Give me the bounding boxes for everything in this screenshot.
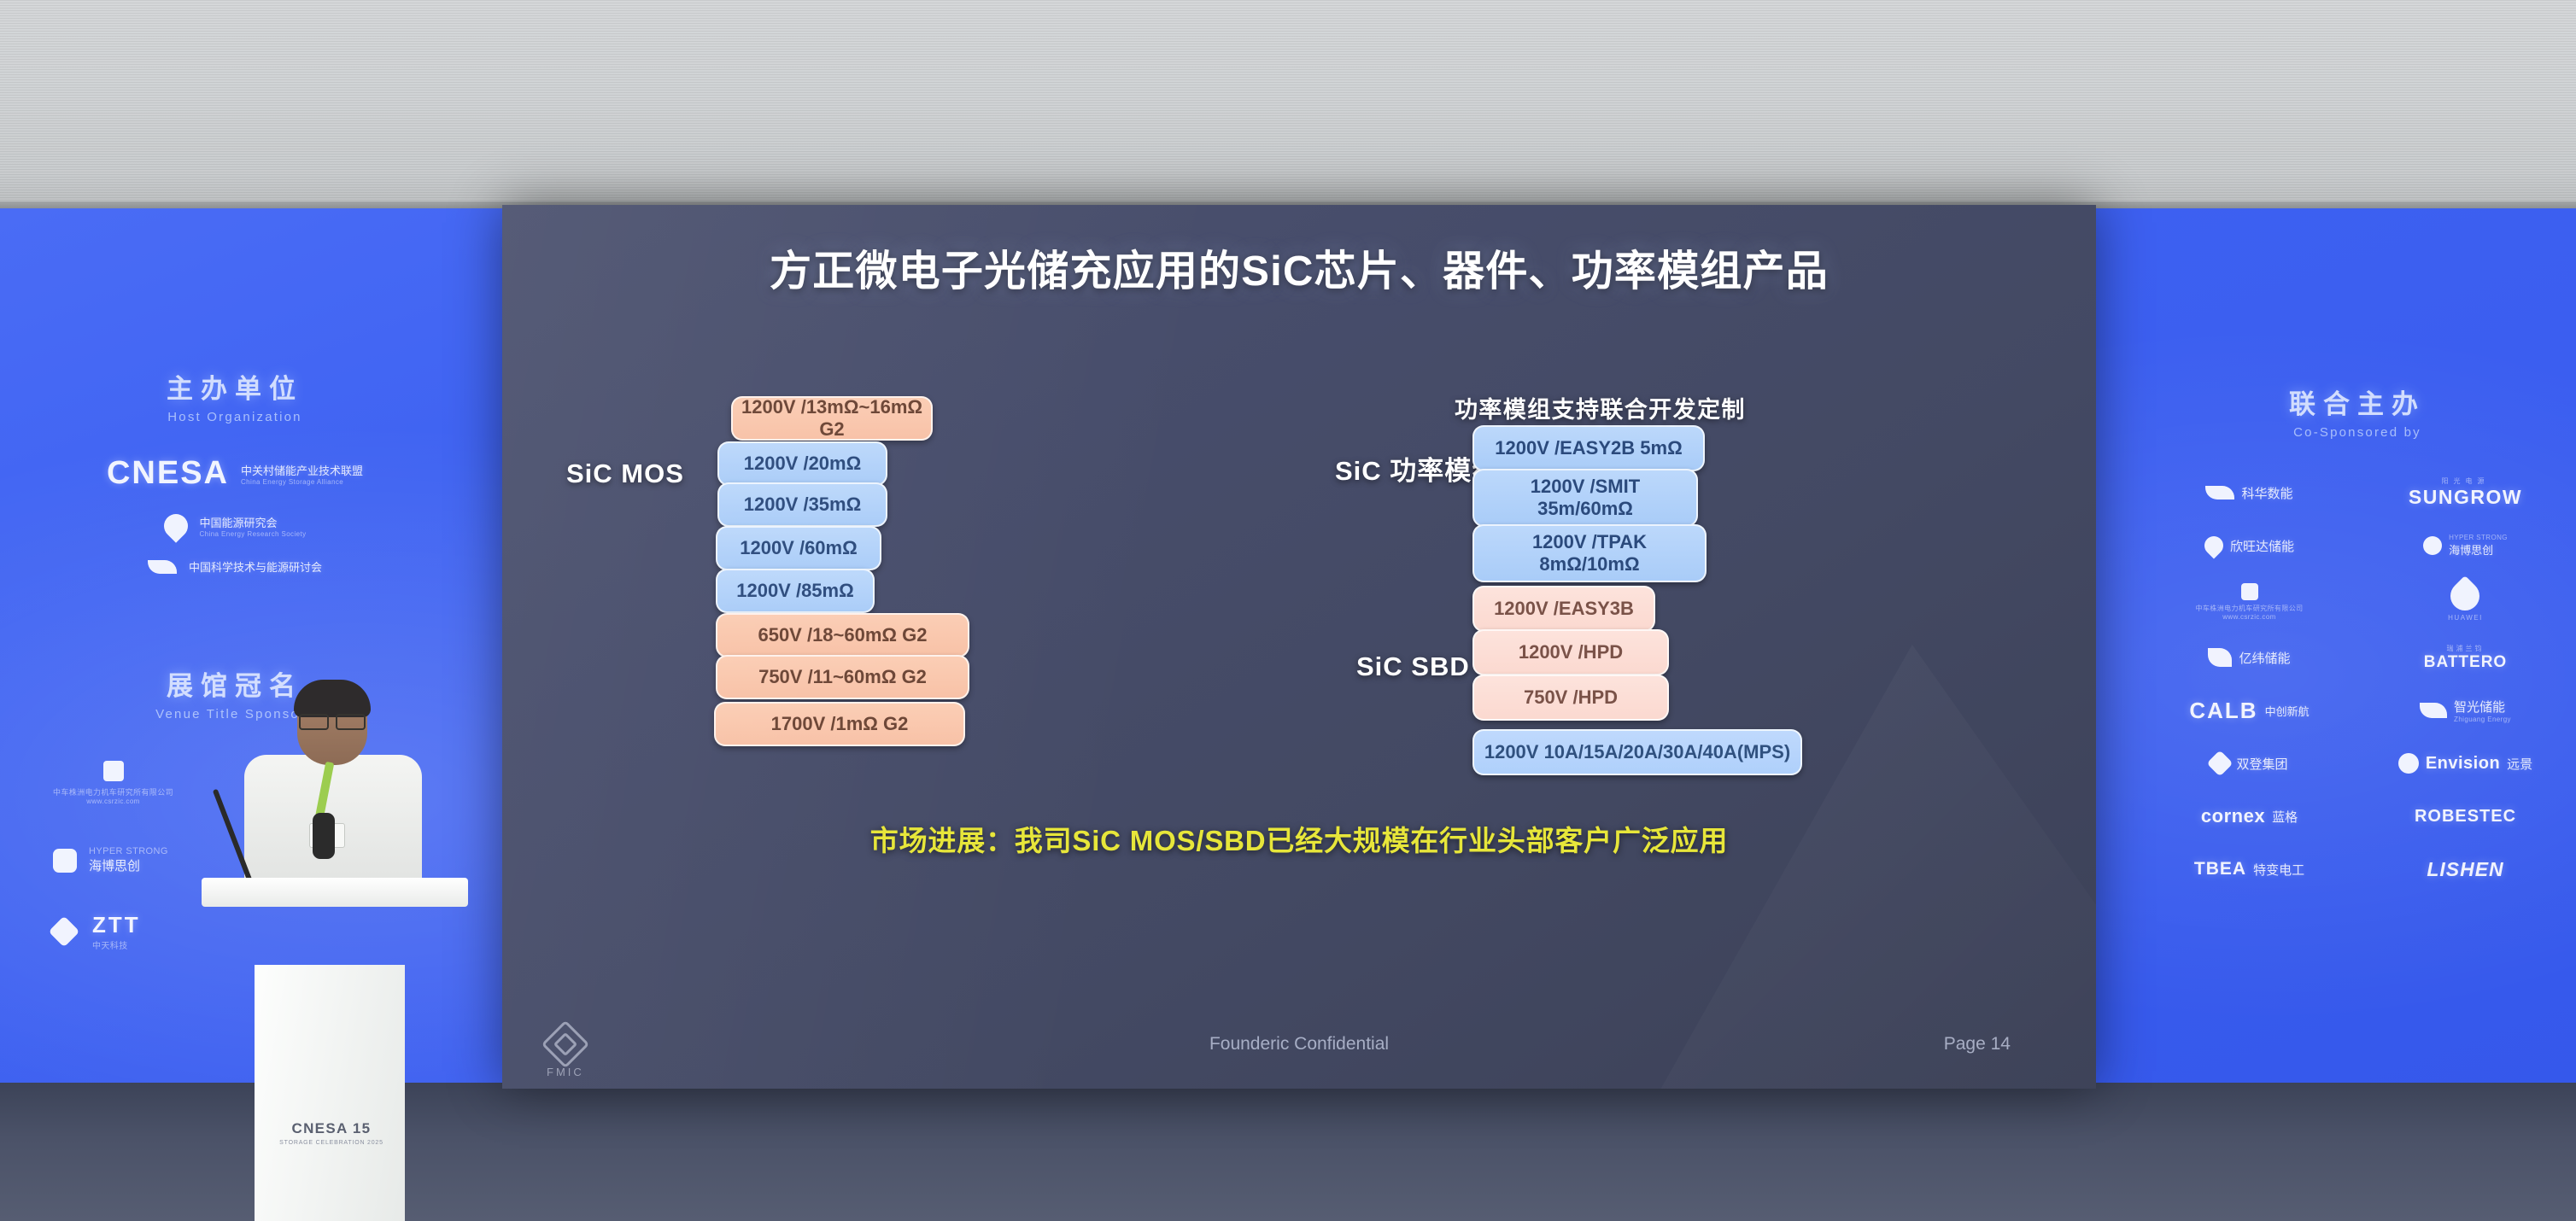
podium-logo-sub: STORAGE CELEBRATION 2025 — [272, 1140, 391, 1146]
chip-module-2: 1200V /TPAK 8mΩ/10mΩ — [1472, 524, 1707, 582]
logo-envision-energy: 欣旺达储能 — [2152, 529, 2346, 563]
chip-mos-4: 1200V /85mΩ — [716, 569, 875, 613]
envision-name-cn: 远景 — [2507, 755, 2532, 773]
cnesa-name-en: China Energy Storage Alliance — [241, 478, 363, 486]
petal-icon — [2200, 532, 2227, 558]
logo-battero: 瑞浦兰钧 BATTERO — [2368, 640, 2562, 675]
sungrow-name-cn: 阳光电源 — [2409, 476, 2522, 486]
logo-lishen: LISHEN — [2368, 852, 2562, 886]
cnesa-name-cn: 中关村储能产业技术联盟 — [241, 462, 363, 478]
co-sponsor-logo-grid: 科华数能 阳光电源 SUNGROW 欣旺达储能 HYPER STRONG 海博思… — [2152, 476, 2562, 886]
cers-name-cn: 中国能源研究会 — [200, 514, 307, 530]
podium-branding: CNESA 15 STORAGE CELEBRATION 2025 — [272, 1120, 391, 1146]
swoosh-icon — [148, 560, 177, 574]
chip-module-5: 750V /HPD — [1472, 675, 1669, 721]
chip-sbd-0: 1200V 10A/15A/20A/30A/40A(MPS) — [1472, 729, 1802, 775]
logo-zhiguang: 智光储能 Zhiguang Energy — [2368, 693, 2562, 727]
calb-wordmark: CALB — [2189, 698, 2257, 724]
calb-name-cn: 中创新航 — [2265, 703, 2310, 719]
cornex-name-cn: 蓝格 — [2272, 808, 2298, 826]
logo-shuangdeng: 双登集团 — [2152, 746, 2346, 780]
slide-title: 方正微电子光储充应用的SiC芯片、器件、功率模组产品 — [502, 237, 2096, 298]
shuangdeng-name: 双登集团 — [2236, 755, 2287, 773]
presenter: CNESA 15 STORAGE CELEBRATION 2025 — [231, 683, 436, 965]
logo-eve-energy: 亿纬储能 — [2152, 640, 2346, 675]
square-icon — [103, 761, 124, 781]
petal-icon — [159, 509, 193, 543]
cset-name-cn: 中国科学技术与能源研讨会 — [189, 558, 322, 575]
robestec-wordmark: ROBESTEC — [2415, 807, 2516, 827]
chip-mos-1: 1200V /20mΩ — [717, 441, 887, 486]
battero-wordmark: BATTERO — [2424, 653, 2507, 671]
hyperstrong2-name-cn: 海博思创 — [2449, 541, 2508, 558]
logo-kehua: 科华数能 — [2152, 476, 2346, 510]
chip-mos-2: 1200V /35mΩ — [717, 482, 887, 527]
square-icon — [2241, 583, 2258, 600]
chip-module-0: 1200V /EASY2B 5mΩ — [1472, 425, 1705, 471]
slide-footer: FMIC Founderic Confidential Page 14 — [502, 1025, 2096, 1073]
glasses-icon — [299, 714, 366, 727]
diamond-icon — [2207, 750, 2234, 776]
host-organization-heading-cn: 主办单位 — [34, 367, 436, 406]
logo-robestec: ROBESTEC — [2368, 799, 2562, 833]
crrc2-name-cn: 中车株洲电力机车研究所有限公司 — [2196, 604, 2304, 613]
chip-mos-3: 1200V /60mΩ — [716, 526, 881, 570]
logo-cers: 中国能源研究会 China Energy Research Society — [34, 514, 436, 538]
podium-stem — [255, 965, 405, 1221]
co-sponsors-panel: 联合主办 Co-Sponsored by 科华数能 阳光电源 SUNGROW 欣… — [2152, 383, 2562, 886]
crrc-name-en: www.csrzic.com — [53, 797, 173, 805]
ceiling — [0, 0, 2576, 210]
co-sponsor-heading-cn: 联合主办 — [2152, 383, 2562, 421]
chip-module-1: 1200V /SMIT 35m/60mΩ — [1472, 469, 1698, 527]
logo-calb: CALB 中创新航 — [2152, 693, 2346, 727]
xinwangda-name: 欣旺达储能 — [2230, 537, 2294, 555]
logo-cnesa: CNESA 中关村储能产业技术联盟 China Energy Storage A… — [34, 455, 436, 492]
sungrow-wordmark: SUNGROW — [2409, 486, 2522, 508]
logo-cornex: cornex 蓝格 — [2152, 799, 2346, 833]
group-label-sic-sbd: SiC SBD — [1356, 651, 1470, 682]
host-organization-panel: 主办单位 Host Organization CNESA 中关村储能产业技术联盟… — [34, 367, 436, 575]
hyperstrong-name-en: HYPER STRONG — [89, 846, 168, 856]
logo-tbea: TBEA 特变电工 — [2152, 852, 2346, 886]
lishen-wordmark: LISHEN — [2427, 858, 2503, 881]
logo-huawei: HUAWEI — [2368, 581, 2562, 622]
swoosh-icon — [2205, 486, 2234, 499]
logo-envision: Envision 远景 — [2368, 746, 2562, 780]
confidential-notice: Founderic Confidential — [502, 1034, 2096, 1054]
envision-wordmark: Envision — [2426, 754, 2500, 774]
chip-module-2-line1: 1200V /TPAK — [1532, 531, 1647, 553]
tbea-wordmark: TBEA — [2194, 859, 2246, 879]
logo-crrc-2: 中车株洲电力机车研究所有限公司 www.csrzic.com — [2152, 581, 2346, 622]
zhiguang-name-cn: 智光储能 — [2454, 698, 2511, 716]
logo-sungrow: 阳光电源 SUNGROW — [2368, 476, 2562, 510]
fmic-logo-name: FMIC — [547, 1066, 584, 1078]
circle-icon — [2398, 753, 2419, 774]
diamond-icon — [49, 916, 80, 948]
hyperstrong2-name-en: HYPER STRONG — [2449, 534, 2508, 541]
swoosh-icon — [2420, 703, 2447, 718]
eve-name: 亿纬储能 — [2239, 649, 2290, 667]
hexagon-icon — [53, 849, 77, 873]
tbea-name-cn: 特变电工 — [2253, 861, 2304, 879]
conference-stage-photo: 主办单位 Host Organization CNESA 中关村储能产业技术联盟… — [0, 0, 2576, 1221]
projected-slide: 方正微电子光储充应用的SiC芯片、器件、功率模组产品 SiC MOS SiC 功… — [502, 205, 2096, 1089]
chip-module-4: 1200V /HPD — [1472, 629, 1669, 675]
logo-cset: 中国科学技术与能源研讨会 — [34, 558, 436, 575]
hyperstrong-name-cn: 海博思创 — [89, 856, 168, 874]
market-progress-note: 市场进展：我司SiC MOS/SBD已经大规模在行业头部客户广泛应用 — [502, 818, 2096, 859]
chip-mos-7: 1700V /1mΩ G2 — [714, 702, 965, 746]
chip-mos-0: 1200V /13mΩ~16mΩ G2 — [731, 396, 933, 441]
module-custom-dev-header: 功率模组支持联合开发定制 — [1455, 391, 1746, 424]
swoosh-icon — [2208, 648, 2232, 667]
chip-module-1-line1: 1200V /SMIT — [1531, 476, 1640, 498]
group-label-sic-mos: SiC MOS — [566, 459, 684, 489]
cornex-wordmark: cornex — [2201, 805, 2265, 827]
chip-module-3: 1200V /EASY3B — [1472, 586, 1655, 632]
huawei-wordmark: HUAWEI — [2448, 614, 2483, 622]
chip-module-2-line2: 8mΩ/10mΩ — [1539, 553, 1639, 575]
host-organization-heading-en: Host Organization — [34, 410, 436, 424]
kehua-name: 科华数能 — [2241, 484, 2292, 502]
zhiguang-name-en: Zhiguang Energy — [2454, 716, 2511, 723]
crrc-name-cn: 中车株洲电力机车研究所有限公司 — [53, 786, 173, 797]
ztt-wordmark: ZTT — [92, 912, 141, 938]
cers-name-en: China Energy Research Society — [200, 530, 307, 538]
cnesa-wordmark: CNESA — [107, 455, 229, 492]
chip-mos-6: 750V /11~60mΩ G2 — [716, 655, 969, 699]
battero-name-cn: 瑞浦兰钧 — [2424, 644, 2507, 653]
logo-hyperstrong-2: HYPER STRONG 海博思创 — [2368, 529, 2562, 563]
crrc2-name-en: www.csrzic.com — [2196, 613, 2304, 621]
handheld-microphone — [313, 813, 335, 859]
chip-module-1-line2: 35m/60mΩ — [1537, 498, 1633, 520]
ztt-name-cn: 中天科技 — [92, 938, 141, 951]
presenter-hair — [294, 680, 371, 717]
chip-mos-5: 650V /18~60mΩ G2 — [716, 613, 969, 657]
co-sponsor-heading-en: Co-Sponsored by — [2152, 425, 2562, 440]
podium-top — [202, 878, 468, 907]
huawei-petal-icon — [2444, 575, 2485, 616]
circle-icon — [2423, 536, 2442, 555]
podium-logo: CNESA 15 — [272, 1120, 391, 1137]
page-number: Page 14 — [1944, 1034, 2011, 1054]
